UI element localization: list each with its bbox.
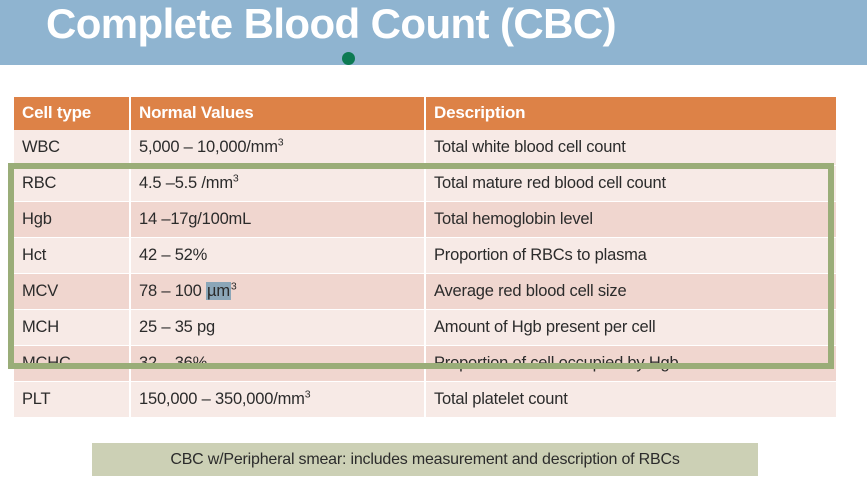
normal-values-value: 25 – 35 pg [130, 310, 425, 346]
superscript: 3 [305, 388, 311, 400]
cell-type-value: WBC [14, 130, 130, 166]
cell-type-value: MCHC [14, 346, 130, 382]
table-row: PLT150,000 – 350,000/mm3Total platelet c… [14, 382, 836, 418]
cell-type-value: Hgb [14, 202, 130, 238]
description-value: Amount of Hgb present per cell [425, 310, 836, 346]
page-title: Complete Blood Count (CBC) [46, 0, 616, 50]
normal-values-value: 42 – 52% [130, 238, 425, 274]
superscript: 3 [233, 172, 239, 184]
caption-box: CBC w/Peripheral smear: includes measure… [92, 443, 758, 476]
description-value: Total white blood cell count [425, 130, 836, 166]
normal-values-value: 32 – 36% [130, 346, 425, 382]
selected-text[interactable]: µm [206, 282, 231, 300]
table-row: Hct42 – 52%Proportion of RBCs to plasma [14, 238, 836, 274]
column-header-cell-type: Cell type [14, 97, 130, 130]
normal-values-value: 5,000 – 10,000/mm3 [130, 130, 425, 166]
column-header-description: Description [425, 97, 836, 130]
description-value: Average red blood cell size [425, 274, 836, 310]
table-row: WBC5,000 – 10,000/mm3Total white blood c… [14, 130, 836, 166]
description-value: Proportion of RBCs to plasma [425, 238, 836, 274]
superscript: 3 [231, 280, 237, 292]
cell-type-value: MCH [14, 310, 130, 346]
description-value: Proportion of cell occupied by Hgb [425, 346, 836, 382]
table-body: WBC5,000 – 10,000/mm3Total white blood c… [14, 130, 836, 418]
green-dot-icon [342, 52, 355, 65]
cell-type-value: PLT [14, 382, 130, 418]
description-value: Total hemoglobin level [425, 202, 836, 238]
description-value: Total mature red blood cell count [425, 166, 836, 202]
table-row: RBC4.5 –5.5 /mm3Total mature red blood c… [14, 166, 836, 202]
cell-type-value: Hct [14, 238, 130, 274]
table-row: MCH25 – 35 pgAmount of Hgb present per c… [14, 310, 836, 346]
superscript: 3 [278, 136, 284, 148]
normal-values-value: 150,000 – 350,000/mm3 [130, 382, 425, 418]
normal-values-value: 4.5 –5.5 /mm3 [130, 166, 425, 202]
table-header: Cell type Normal Values Description [14, 97, 836, 130]
column-header-normal-values: Normal Values [130, 97, 425, 130]
caption-text: CBC w/Peripheral smear: includes measure… [170, 451, 679, 469]
normal-values-value: 78 – 100 µm3 [130, 274, 425, 310]
description-value: Total platelet count [425, 382, 836, 418]
cell-type-value: MCV [14, 274, 130, 310]
normal-values-value: 14 –17g/100mL [130, 202, 425, 238]
cbc-table-container: Cell type Normal Values Description WBC5… [14, 97, 836, 418]
cell-type-value: RBC [14, 166, 130, 202]
table-row: MCHC32 – 36%Proportion of cell occupied … [14, 346, 836, 382]
table-row: MCV78 – 100 µm3Average red blood cell si… [14, 274, 836, 310]
cbc-table: Cell type Normal Values Description WBC5… [14, 97, 836, 418]
table-header-row: Cell type Normal Values Description [14, 97, 836, 130]
table-row: Hgb14 –17g/100mLTotal hemoglobin level [14, 202, 836, 238]
